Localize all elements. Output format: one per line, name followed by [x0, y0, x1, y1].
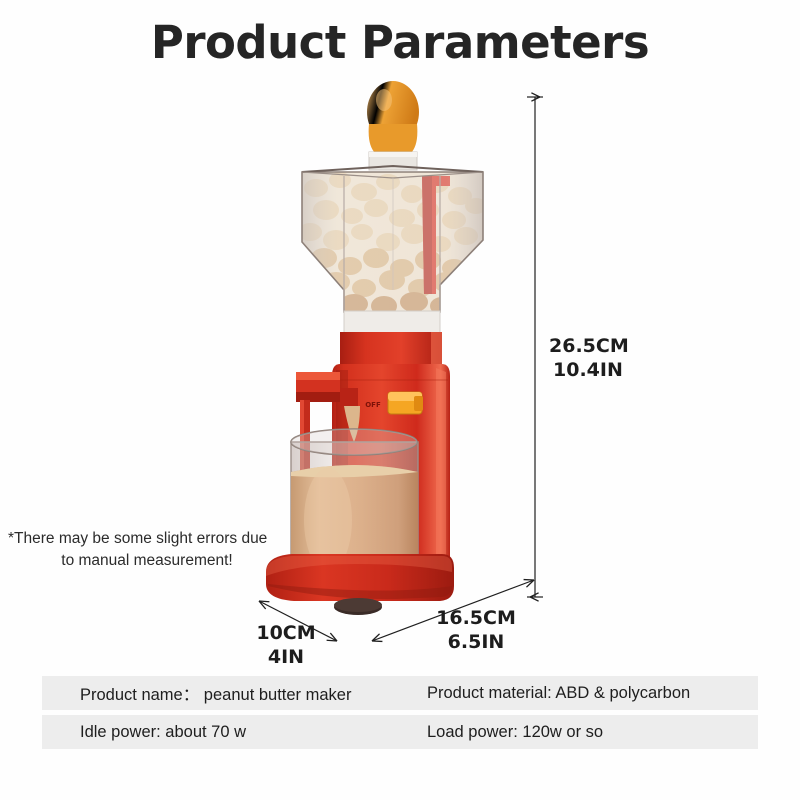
spec-table: Product name： peanut butter maker Produc… — [42, 676, 758, 754]
width-dimension-label: 16.5CM 6.5IN — [416, 607, 536, 655]
peanut-hopper — [296, 166, 491, 318]
table-row: Product name： peanut butter maker Produc… — [42, 676, 758, 710]
orange-knob-icon — [367, 81, 419, 154]
height-cm: 26.5CM — [549, 335, 629, 357]
width-in: 6.5IN — [448, 631, 505, 653]
height-dimension-label: 26.5CM 10.4IN — [549, 335, 629, 383]
product-parameters-page: Product Parameters *There may be some sl… — [0, 0, 800, 800]
spec-product-material: Product material: ABD & polycarbon — [387, 684, 758, 703]
height-in: 10.4IN — [549, 359, 629, 383]
product-photo: OFF — [236, 80, 536, 625]
spec-idle-power: Idle power: about 70 w — [42, 723, 387, 742]
machine-base — [266, 554, 454, 615]
switch-off-label: OFF — [365, 401, 381, 409]
spec-product-name: Product name： peanut butter maker — [42, 681, 387, 705]
depth-dimension-label: 10CM 4IN — [243, 622, 329, 670]
spec-load-power: Load power: 120w or so — [387, 723, 758, 742]
width-cm: 16.5CM — [436, 607, 516, 629]
table-row: Idle power: about 70 w Load power: 120w … — [42, 715, 758, 749]
depth-in: 4IN — [268, 646, 304, 668]
page-title: Product Parameters — [0, 16, 800, 69]
depth-cm: 10CM — [256, 622, 315, 644]
